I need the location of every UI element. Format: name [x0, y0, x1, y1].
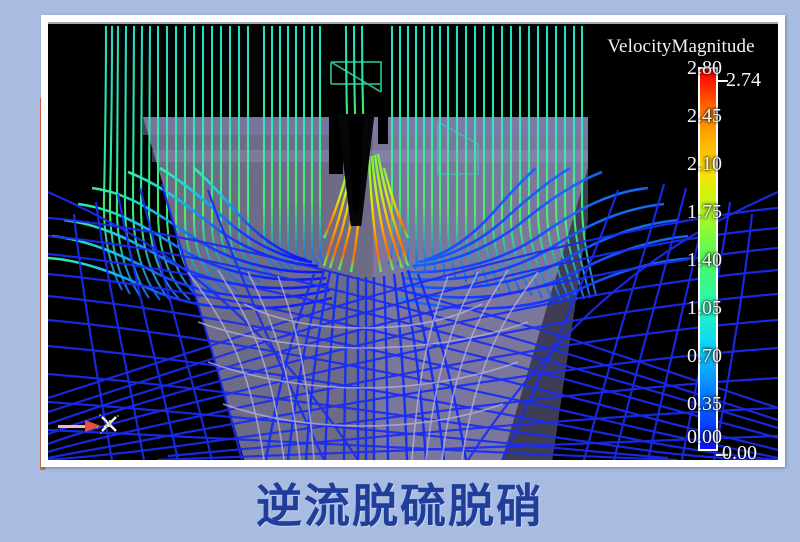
- colorbar-range-min: 0.00: [722, 442, 757, 460]
- colorbar-tick-5: 1.05: [632, 297, 722, 320]
- colorbar-tick-4: 1.40: [632, 249, 722, 272]
- colorbar-tick-0: 2.80: [632, 57, 722, 80]
- colorbar-tick-2: 2.10: [632, 153, 722, 176]
- axis-orientation-indicator: x: [58, 407, 148, 447]
- colorbar-tick-7: 0.35: [632, 393, 722, 416]
- colorbar-tick-3: 1.75: [632, 201, 722, 224]
- colorbar-tick-6: 0.70: [632, 345, 722, 368]
- slide-canvas: VelocityMagnitude 2.80 2.45 2.10 1.75 1.…: [0, 0, 800, 542]
- sweep-arcs-left: [48, 168, 332, 308]
- colorbar-tick-1: 2.45: [632, 105, 722, 128]
- colorbar-tick-8: 0.00: [632, 426, 722, 449]
- colorbar-title: VelocityMagnitude: [566, 36, 778, 58]
- visualization-frame: VelocityMagnitude 2.80 2.45 2.10 1.75 1.…: [41, 15, 785, 467]
- render-viewport: VelocityMagnitude 2.80 2.45 2.10 1.75 1.…: [48, 22, 778, 460]
- falling-streamlines: [104, 26, 596, 300]
- colorbar-group: VelocityMagnitude 2.80 2.45 2.10 1.75 1.…: [648, 22, 778, 460]
- colorbar-range-max: 2.74: [726, 69, 761, 92]
- axis-label-x: x: [104, 415, 111, 432]
- slide-caption: 逆流脱硫脱硝: [0, 470, 800, 536]
